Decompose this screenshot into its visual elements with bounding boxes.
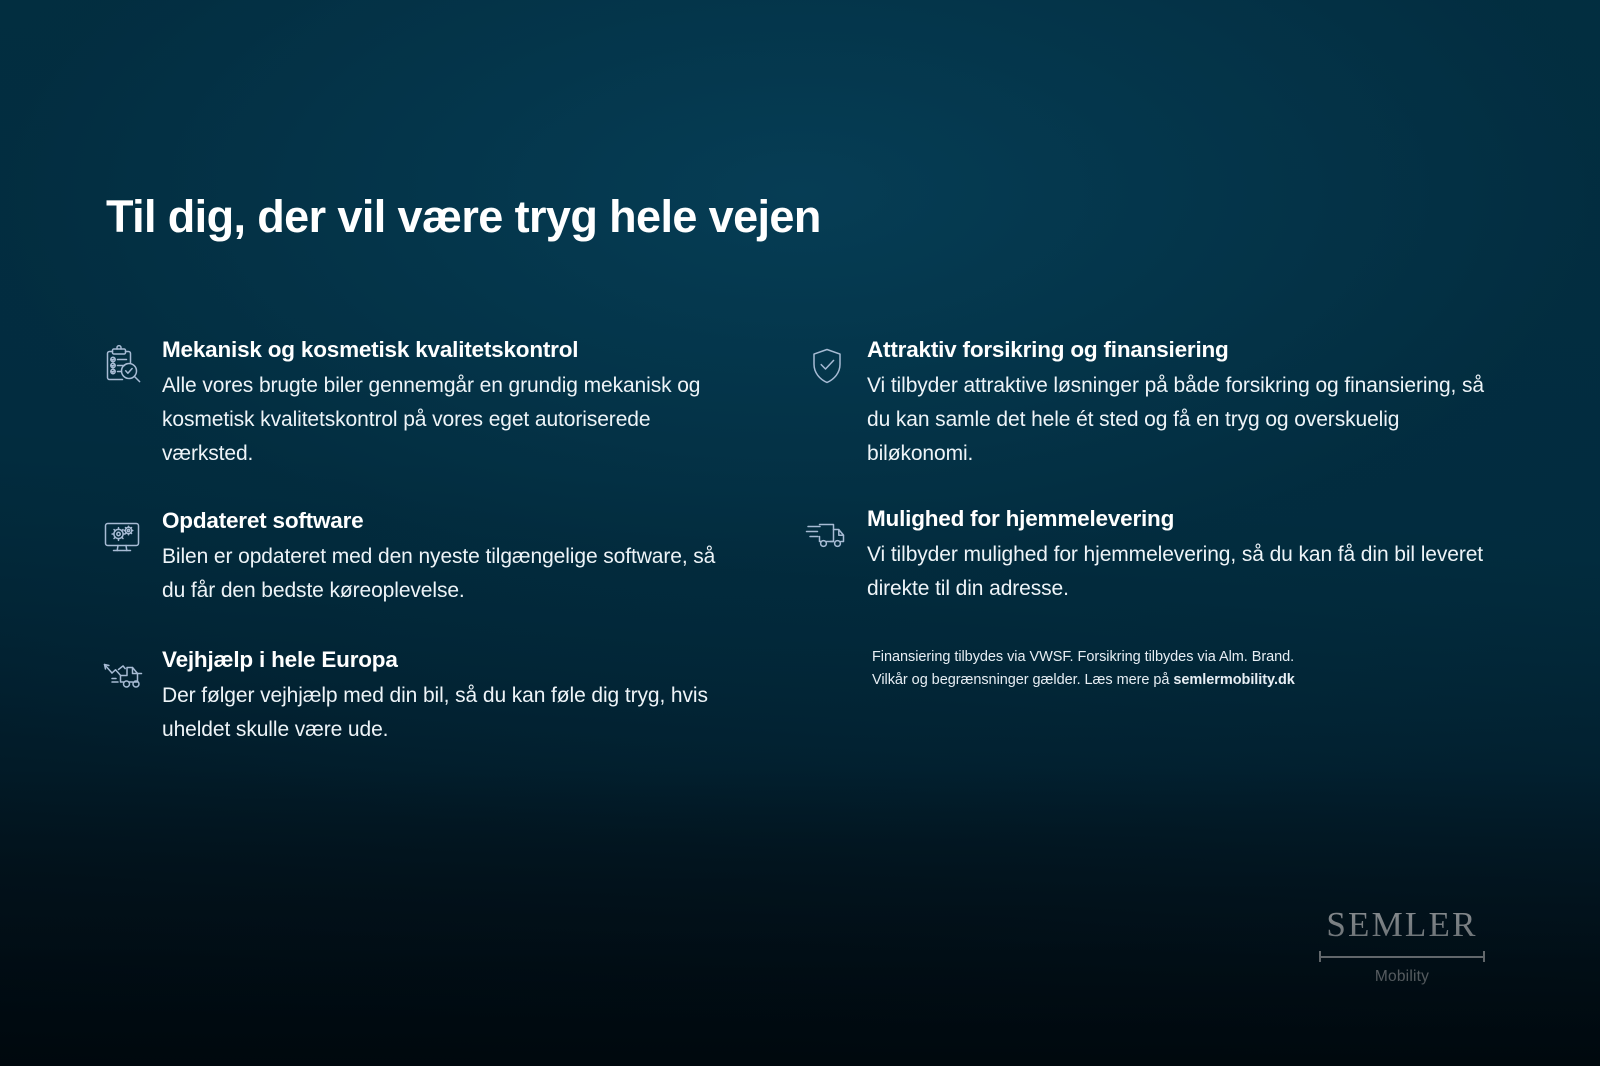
feature-title: Vejhjælp i hele Europa [162,646,740,673]
shield-check-icon [805,336,867,388]
left-column: Mekanisk og kosmetisk kvalitetskontrol A… [0,336,800,747]
feature-text: Vi tilbyder attraktive løsninger på både… [867,369,1490,471]
feature-text: Bilen er opdateret med den nyeste tilgæn… [162,540,740,608]
logo-wordmark: SEMLER [1316,907,1488,942]
logo-divider [1316,951,1488,962]
feature-title: Opdateret software [162,507,740,534]
feature-body: Mulighed for hjemmelevering Vi tilbyder … [867,505,1490,606]
feature-title: Mulighed for hjemmelevering [867,505,1490,532]
promo-poster: Til dig, der vil være tryg hele vejen [0,0,1600,1066]
feature-text: Vi tilbyder mulighed for hjemmelevering,… [867,538,1490,606]
feature-text: Alle vores brugte biler gennemgår en gru… [162,369,740,471]
semlermobility-link[interactable]: semlermobility.dk [1173,672,1294,688]
feature-body: Opdateret software Bilen er opdateret me… [162,507,740,608]
delivery-truck-icon [805,505,867,557]
feature-title: Attraktiv forsikring og finansiering [867,336,1490,363]
feature-insurance-financing: Attraktiv forsikring og finansiering Vi … [805,336,1490,471]
disclaimer-line-1: Finansiering tilbydes via VWSF. Forsikri… [872,649,1294,665]
clipboard-checklist-magnifier-icon [100,336,162,388]
feature-roadside-assistance: Vejhjælp i hele Europa Der følger vejhjæ… [100,646,740,747]
disclaimer-text: Finansiering tilbydes via VWSF. Forsikri… [805,646,1392,691]
tow-truck-icon [100,646,162,698]
monitor-gears-icon [100,507,162,559]
logo-subtitle: Mobility [1316,969,1488,985]
page-title: Til dig, der vil være tryg hele vejen [106,192,821,242]
feature-title: Mekanisk og kosmetisk kvalitetskontrol [162,336,740,363]
feature-home-delivery: Mulighed for hjemmelevering Vi tilbyder … [805,505,1490,606]
feature-text: Der følger vejhjælp med din bil, så du k… [162,679,740,747]
right-column: Attraktiv forsikring og finansiering Vi … [800,336,1600,691]
disclaimer-line-2-prefix: Vilkår og begrænsninger gælder. Læs mere… [872,672,1173,688]
semler-mobility-logo: SEMLER Mobility [1316,907,1488,985]
feature-quality-control: Mekanisk og kosmetisk kvalitetskontrol A… [100,336,740,471]
feature-body: Attraktiv forsikring og finansiering Vi … [867,336,1490,471]
features-columns: Mekanisk og kosmetisk kvalitetskontrol A… [0,336,1600,747]
feature-updated-software: Opdateret software Bilen er opdateret me… [100,507,740,608]
feature-body: Mekanisk og kosmetisk kvalitetskontrol A… [162,336,740,471]
feature-body: Vejhjælp i hele Europa Der følger vejhjæ… [162,646,740,747]
